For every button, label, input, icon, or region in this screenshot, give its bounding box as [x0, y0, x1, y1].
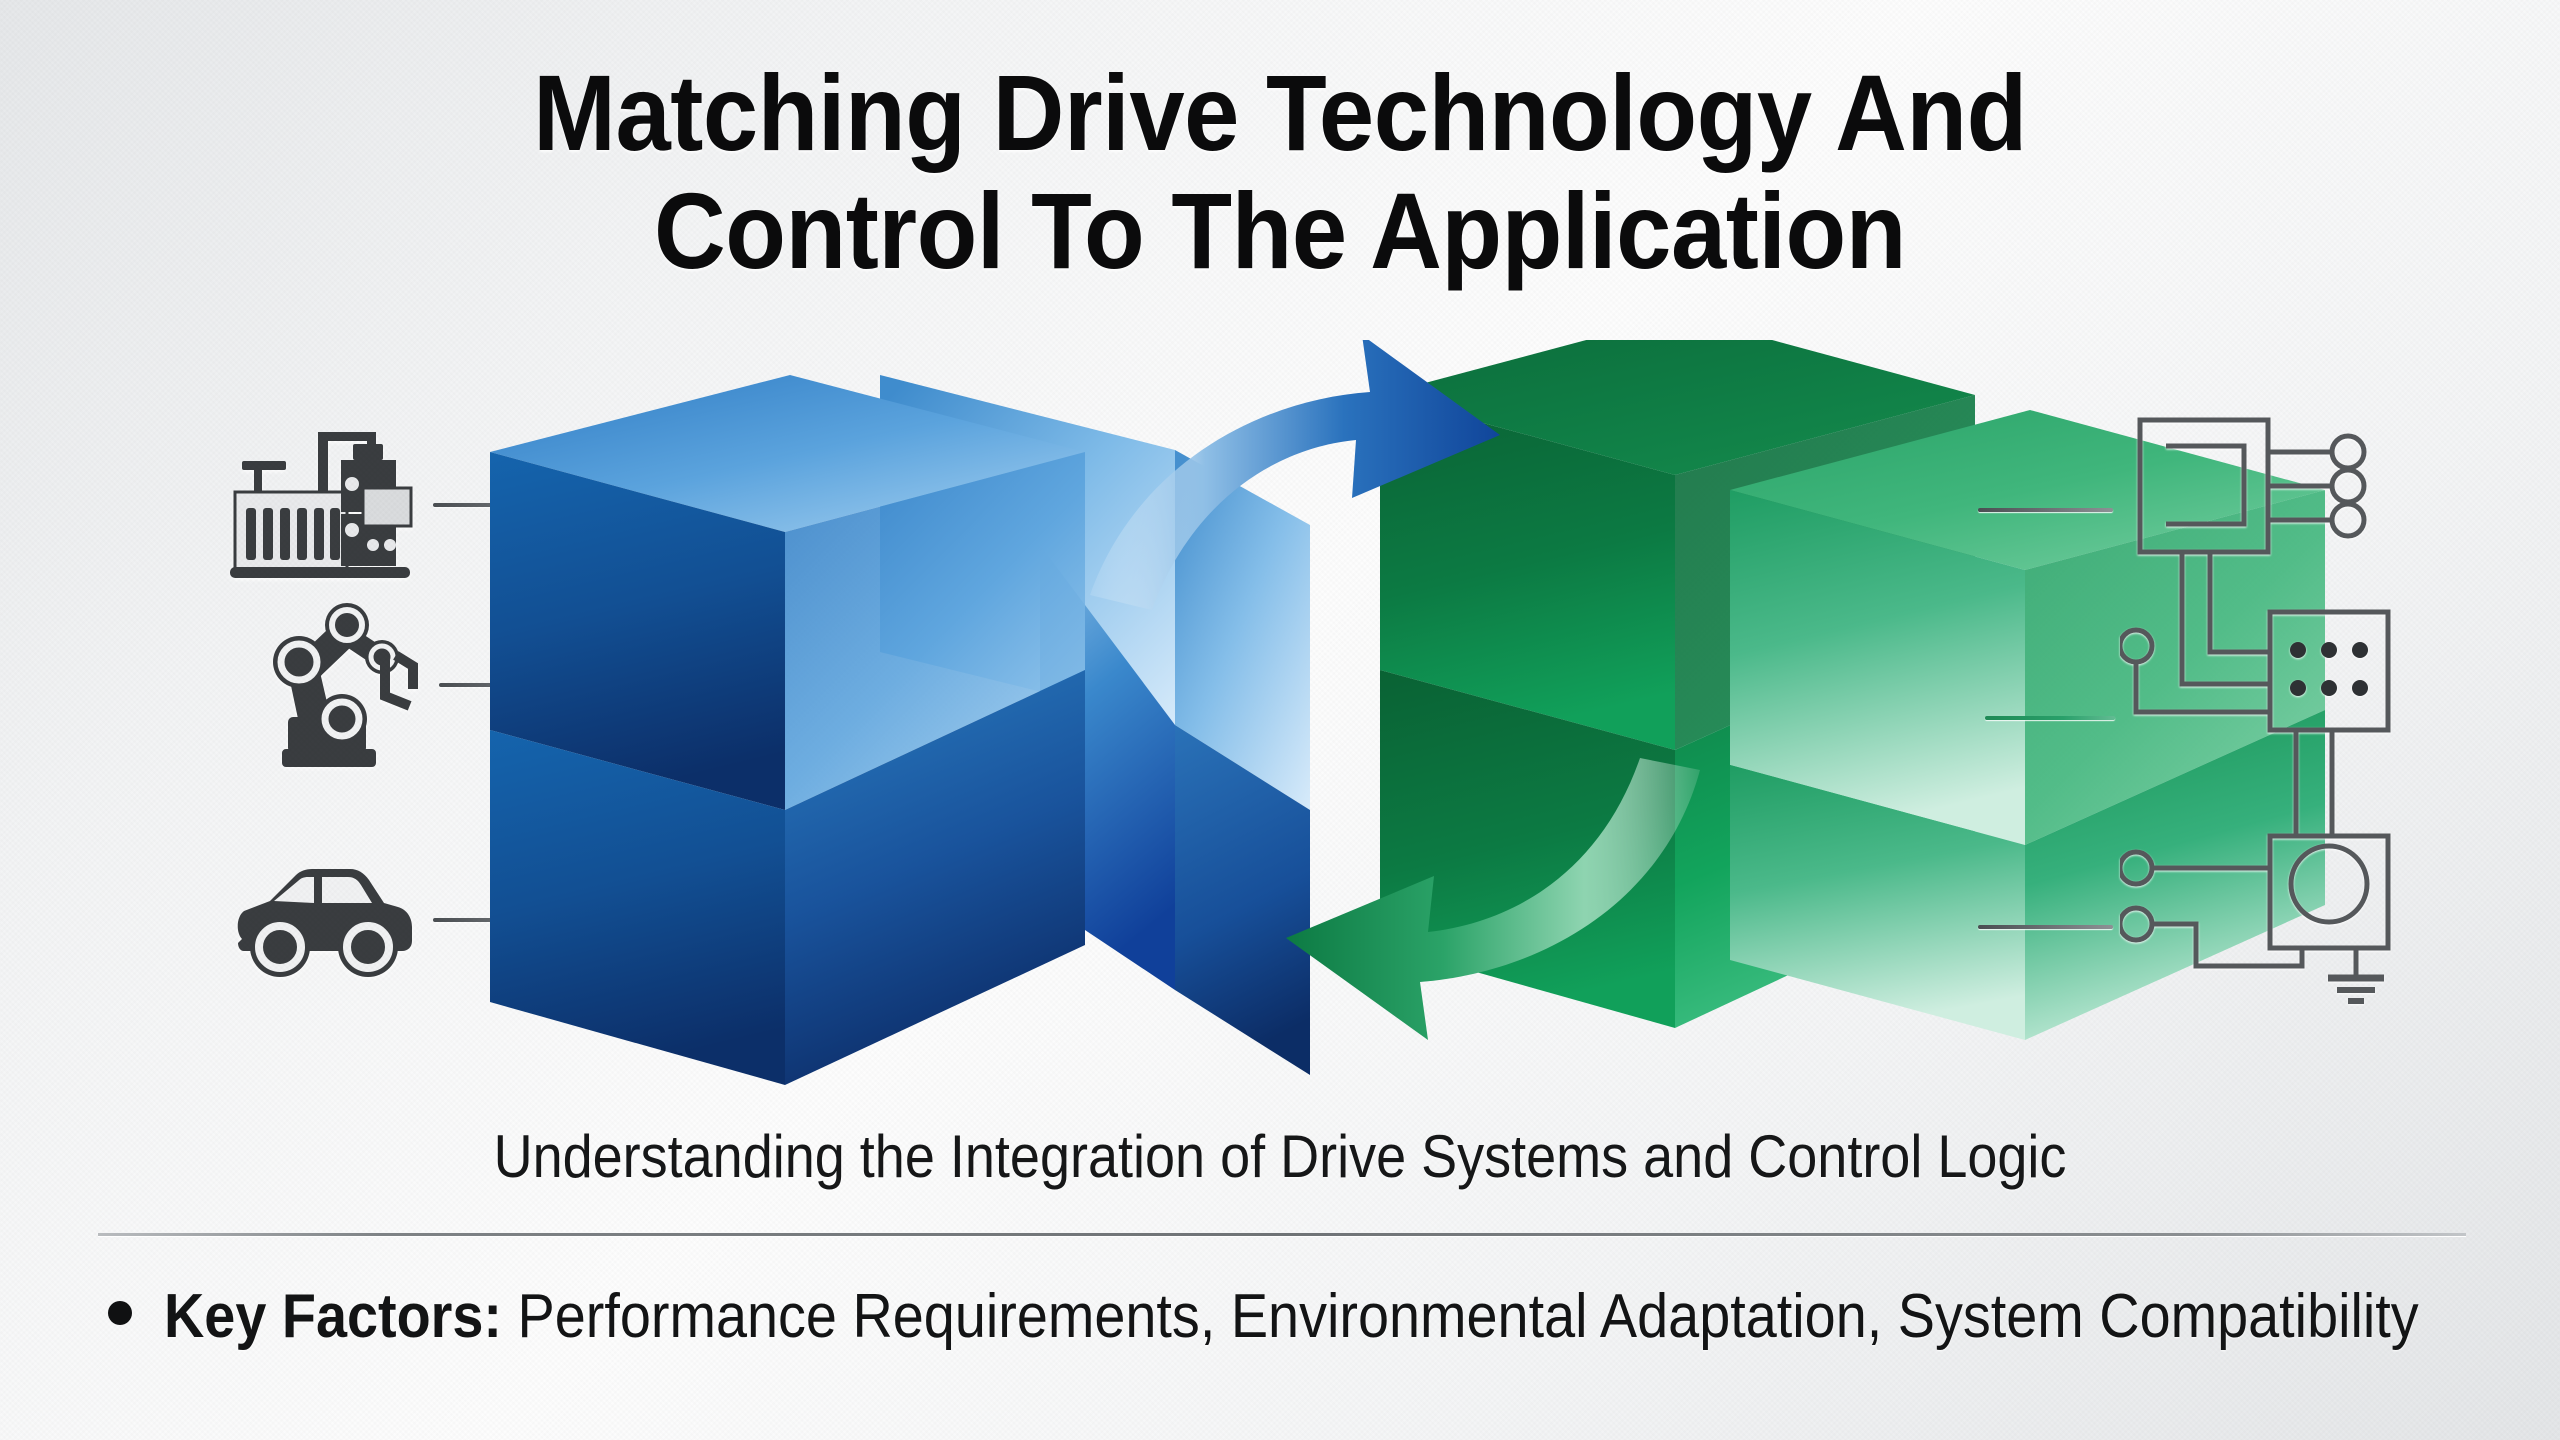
controller-block	[2140, 420, 2268, 552]
slide-canvas: Matching Drive Technology And Control To…	[0, 0, 2560, 1440]
section-divider	[98, 1233, 2466, 1236]
connector-line-io-module	[1985, 716, 2115, 720]
io-module-block	[2270, 612, 2388, 730]
io-module-pins	[2290, 642, 2368, 696]
key-factors-row: Key Factors: Performance Requirements, E…	[108, 1282, 2468, 1352]
connector-line-controller	[1978, 508, 2113, 512]
page-title: Matching Drive Technology And Control To…	[0, 54, 2560, 290]
title-line-1: Matching Drive Technology And	[102, 54, 2457, 172]
bullet-point-icon	[108, 1301, 132, 1325]
key-factors-text: Key Factors: Performance Requirements, E…	[164, 1282, 2419, 1352]
control-circuit-diagram	[2120, 400, 2440, 1025]
connector-line-motor	[1978, 925, 2113, 929]
key-factors-values: Performance Requirements, Environmental …	[502, 1282, 2419, 1351]
title-line-2: Control To The Application	[102, 172, 2457, 290]
ground-symbol	[2328, 978, 2384, 1001]
key-factors-label: Key Factors:	[164, 1282, 502, 1351]
io-input-terminal	[2120, 630, 2152, 662]
subtitle: Understanding the Integration of Drive S…	[128, 1122, 2432, 1192]
motor-block	[2270, 836, 2388, 948]
